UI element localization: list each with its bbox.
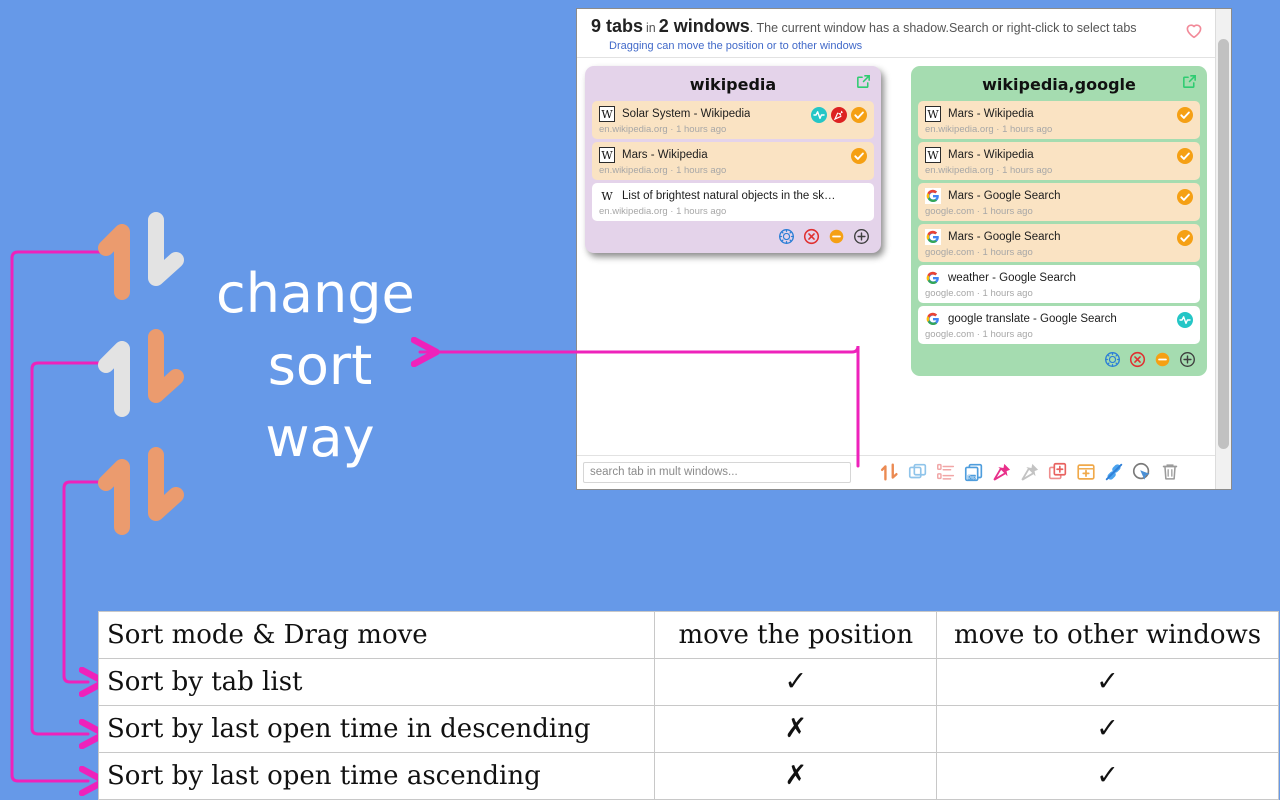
tab-row[interactable]: google translate - Google Search google.… [918,306,1200,344]
caption-change-sort-way: change sort way [216,258,424,474]
row-mode-label: Sort by last open time in descending [99,706,655,753]
tab-subtitle: en.wikipedia.org · 1 hours ago [925,165,1192,176]
popup-drag-hint: Dragging can move the position or to oth… [591,40,1205,52]
sort-icon-tab-list [92,208,202,300]
tab-row[interactable]: W Mars - Wikipedia en.wikipedia.org · 1 … [592,142,874,180]
search-input[interactable] [583,462,851,483]
tab-title: Mars - Google Search [948,231,1061,243]
window-footer-actions [592,224,874,246]
table-header-row: Sort mode & Drag move move the position … [99,612,1279,659]
unpin-icon[interactable] [1019,461,1041,483]
google-icon [925,270,941,286]
tab-top: W Mars - Wikipedia [599,147,866,163]
row-mode-label: Sort by tab list [99,659,655,706]
arrow-sort1-to-row3 [12,252,104,781]
check-icon[interactable] [1177,189,1193,205]
col-header-move-windows: move to other windows [937,612,1279,659]
row-move-position: ✗ [655,753,937,800]
tab-title: Mars - Google Search [948,190,1061,202]
row-move-windows: ✓ [937,659,1279,706]
tab-subtitle: en.wikipedia.org · 1 hours ago [599,124,866,135]
tab-subtitle: google.com · 1 hours ago [925,288,1192,299]
pin-icon[interactable] [991,461,1013,483]
wikipedia-icon: W [599,188,615,204]
select-pointer-icon[interactable] [1131,461,1153,483]
caption-line-2: sort [216,330,424,402]
extension-popup-window: 9 tabsin2 windows. The current window ha… [576,8,1232,490]
new-window-icon[interactable] [1075,461,1097,483]
list-tree-icon[interactable] [935,461,957,483]
external-link-icon[interactable] [1181,73,1198,90]
tab-title: Solar System - Wikipedia [622,108,750,120]
tab-subtitle: google.com · 1 hours ago [925,247,1192,258]
sort-icon-descending [92,325,202,417]
window-footer-actions [918,347,1200,369]
window-title: wikipedia [592,72,874,101]
tab-title: Mars - Wikipedia [948,149,1034,161]
in-word: in [643,21,659,35]
tab-title: google translate - Google Search [948,313,1117,325]
caption-line-1: change [216,258,424,330]
google-icon [925,229,941,245]
row-mode-label: Sort by last open time ascending [99,753,655,800]
tab-subtitle: google.com · 1 hours ago [925,329,1192,340]
tab-badges [811,107,867,123]
tab-title: Mars - Wikipedia [948,108,1034,120]
popup-header: 9 tabsin2 windows. The current window ha… [577,9,1215,58]
scrollbar-thumb[interactable] [1218,39,1229,449]
tab-top: W Mars - Wikipedia [925,106,1192,122]
tab-badges [1177,312,1193,328]
tab-top: W List of brightest natural objects in t… [599,188,866,204]
external-link-icon[interactable] [855,73,872,90]
row-move-windows: ✓ [937,706,1279,753]
close-circle-icon[interactable] [1129,351,1146,368]
add-to-group-icon[interactable] [1047,461,1069,483]
wikipedia-icon: W [599,106,615,122]
tab-badges [1177,230,1193,246]
table-row: Sort by last open time in descending ✗ ✓ [99,706,1279,753]
tab-title: Mars - Wikipedia [622,149,708,161]
svg-text:W: W [601,149,613,162]
window-card-current[interactable]: wikipedia W Solar System - Wikipedia en. [585,66,881,253]
check-icon[interactable] [851,107,867,123]
pin-icon[interactable] [831,107,847,123]
tab-row[interactable]: W Mars - Wikipedia en.wikipedia.org · 1 … [918,142,1200,180]
svg-text:W: W [927,149,939,162]
tab-badges [1177,148,1193,164]
header-note: . The current window has a shadow.Search… [750,21,1137,35]
tab-row[interactable]: Mars - Google Search google.com · 1 hour… [918,183,1200,221]
tab-top: google translate - Google Search [925,311,1192,327]
window-count: 2 windows [659,16,750,36]
trash-icon[interactable] [1159,461,1181,483]
window-card-other[interactable]: wikipedia,google W Mars - Wikipedia en.w [911,66,1207,376]
tab-count: 9 tabs [591,16,643,36]
tab-top: weather - Google Search [925,270,1192,286]
svg-text:W: W [927,108,939,121]
plus-circle-icon[interactable] [1179,351,1196,368]
tab-badges [1177,189,1193,205]
wikipedia-icon: W [925,106,941,122]
tab-row[interactable]: weather - Google Search google.com · 1 h… [918,265,1200,303]
popup-body: 9 tabsin2 windows. The current window ha… [577,9,1215,489]
check-icon[interactable] [1177,107,1193,123]
minus-circle-icon[interactable] [1154,351,1171,368]
google-icon [925,188,941,204]
copy-windows-icon[interactable] [907,461,929,483]
caption-line-3: way [216,402,424,474]
sort-mode-comparison-table: Sort mode & Drag move move the position … [98,611,1279,800]
wikipedia-icon: W [599,147,615,163]
tab-subtitle: en.wikipedia.org · 1 hours ago [599,206,866,217]
col-header-mode: Sort mode & Drag move [99,612,655,659]
wikipedia-icon: W [925,147,941,163]
heart-icon[interactable] [1183,19,1205,41]
tab-row[interactable]: W List of brightest natural objects in t… [592,183,874,221]
close-circle-icon[interactable] [803,228,820,245]
check-icon[interactable] [851,148,867,164]
tab-title: List of brightest natural objects in the… [622,190,837,202]
check-icon[interactable] [1177,230,1193,246]
check-icon[interactable] [1177,148,1193,164]
google-icon [925,311,941,327]
svg-text:W: W [601,190,613,203]
sort-icon[interactable] [879,461,901,483]
row-move-position: ✗ [655,706,937,753]
tab-subtitle: en.wikipedia.org · 1 hours ago [925,124,1192,135]
tab-title: weather - Google Search [948,272,1076,284]
toolbar-actions: Dup [879,461,1181,483]
popup-toolbar: Dup [577,455,1215,489]
plus-circle-icon[interactable] [853,228,870,245]
gear-icon[interactable] [778,228,795,245]
tab-top: Mars - Google Search [925,188,1192,204]
tab-subtitle: google.com · 1 hours ago [925,206,1192,217]
svg-text:W: W [601,108,613,121]
tab-row[interactable]: W Mars - Wikipedia en.wikipedia.org · 1 … [918,101,1200,139]
row-move-position: ✓ [655,659,937,706]
audio-icon[interactable] [811,107,827,123]
tab-row[interactable]: W Solar System - Wikipedia en.wikipedia.… [592,101,874,139]
minus-circle-icon[interactable] [828,228,845,245]
tab-subtitle: en.wikipedia.org · 1 hours ago [599,165,866,176]
tab-top: Mars - Google Search [925,229,1192,245]
audio-icon[interactable] [1177,312,1193,328]
tab-top: W Mars - Wikipedia [925,147,1192,163]
tab-badges [851,148,867,164]
popup-summary: 9 tabsin2 windows. The current window ha… [591,16,1205,37]
arrow-sort2-to-row2 [32,363,104,734]
tab-badges [1177,107,1193,123]
window-panels: wikipedia W Solar System - Wikipedia en. [577,58,1215,455]
unlink-icon[interactable] [1103,461,1125,483]
table-row: Sort by tab list ✓ ✓ [99,659,1279,706]
window-title: wikipedia,google [918,72,1200,101]
popup-scrollbar[interactable] [1215,9,1231,489]
svg-text:Dup: Dup [968,475,977,480]
col-header-move-position: move the position [655,612,937,659]
gear-icon[interactable] [1104,351,1121,368]
table-row: Sort by last open time ascending ✗ ✓ [99,753,1279,800]
row-move-windows: ✓ [937,753,1279,800]
sort-icon-ascending [92,443,202,535]
duplicate-icon[interactable]: Dup [963,461,985,483]
tab-row[interactable]: Mars - Google Search google.com · 1 hour… [918,224,1200,262]
